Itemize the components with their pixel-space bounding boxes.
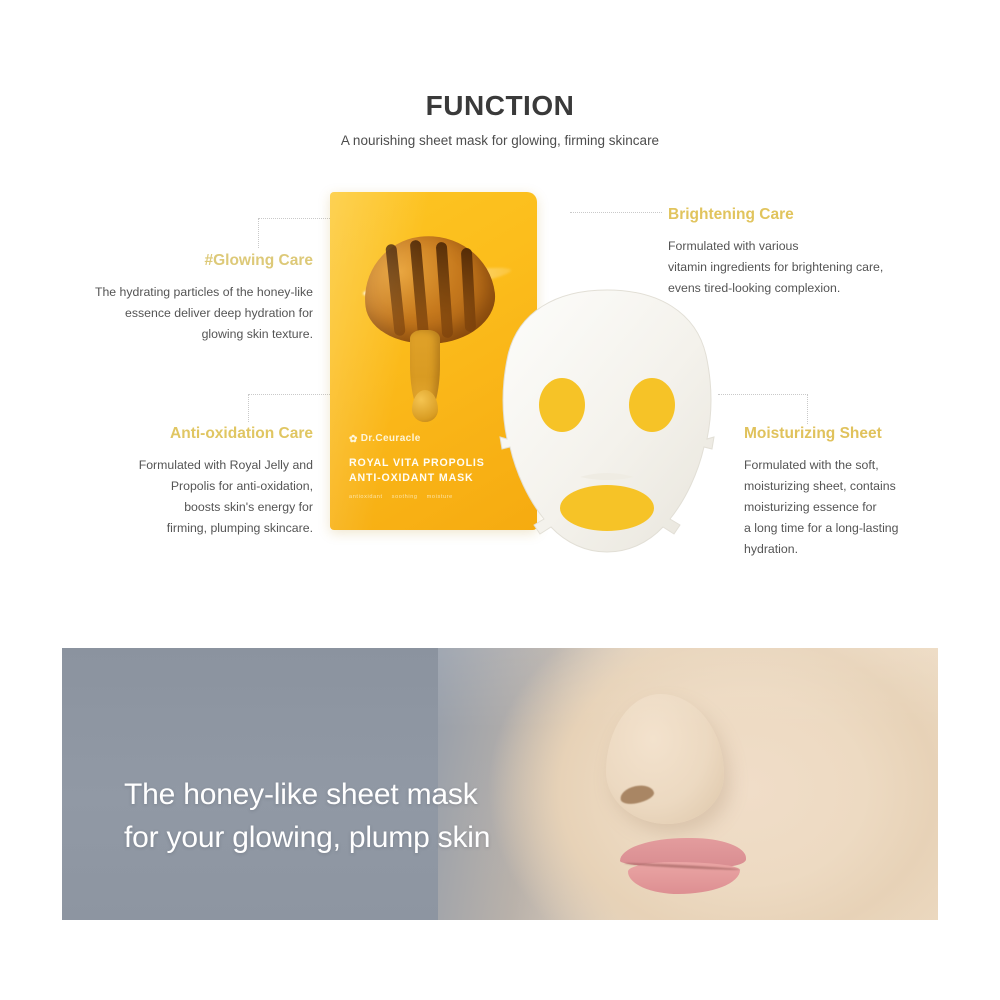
connector-line-moisturizing-horizontal bbox=[718, 394, 808, 396]
product-tag: antioxidant bbox=[349, 494, 383, 500]
feature-antioxidation-care-heading: Anti-oxidation Care bbox=[95, 425, 313, 444]
feature-antioxidation-care-body: Formulated with Royal Jelly and Propolis… bbox=[95, 455, 313, 540]
feature-moisturizing-sheet-heading: Moisturizing Sheet bbox=[744, 425, 994, 444]
face-lips bbox=[620, 838, 746, 900]
page-subtitle: A nourishing sheet mask for glowing, fir… bbox=[0, 133, 1000, 148]
leaf-icon: ✿ bbox=[349, 434, 358, 445]
feature-glowing-care: #Glowing Care The hydrating particles of… bbox=[55, 252, 313, 345]
sheet-mask-image bbox=[496, 287, 718, 555]
feature-glowing-care-heading: #Glowing Care bbox=[55, 252, 313, 271]
feature-glowing-care-body: The hydrating particles of the honey-lik… bbox=[55, 282, 313, 345]
banner-headline: The honey-like sheet mask for your glowi… bbox=[124, 774, 490, 859]
connector-line-antioxidation-vertical bbox=[248, 394, 250, 422]
product-detail-page: FUNCTION A nourishing sheet mask for glo… bbox=[0, 0, 1000, 1000]
feature-moisturizing-sheet-body: Formulated with the soft, moisturizing s… bbox=[744, 455, 994, 561]
brand-name: Dr.Ceuracle bbox=[361, 433, 421, 444]
connector-line-moisturizing-vertical bbox=[807, 394, 809, 424]
page-title: FUNCTION bbox=[0, 90, 1000, 122]
connector-line-glowing-vertical bbox=[258, 218, 260, 248]
feature-antioxidation-care: Anti-oxidation Care Formulated with Roya… bbox=[95, 425, 313, 539]
honey-drop bbox=[412, 390, 438, 422]
face-nose bbox=[606, 694, 724, 824]
product-image: ✿Dr.Ceuracle ROYAL VITA PROPOLIS ANTI-OX… bbox=[330, 192, 720, 557]
feature-moisturizing-sheet: Moisturizing Sheet Formulated with the s… bbox=[744, 425, 994, 560]
product-tag: soothing bbox=[392, 494, 418, 500]
product-tag: moisture bbox=[427, 494, 453, 500]
model-face-photo bbox=[438, 648, 938, 920]
bottom-banner: The honey-like sheet mask for your glowi… bbox=[62, 648, 938, 920]
